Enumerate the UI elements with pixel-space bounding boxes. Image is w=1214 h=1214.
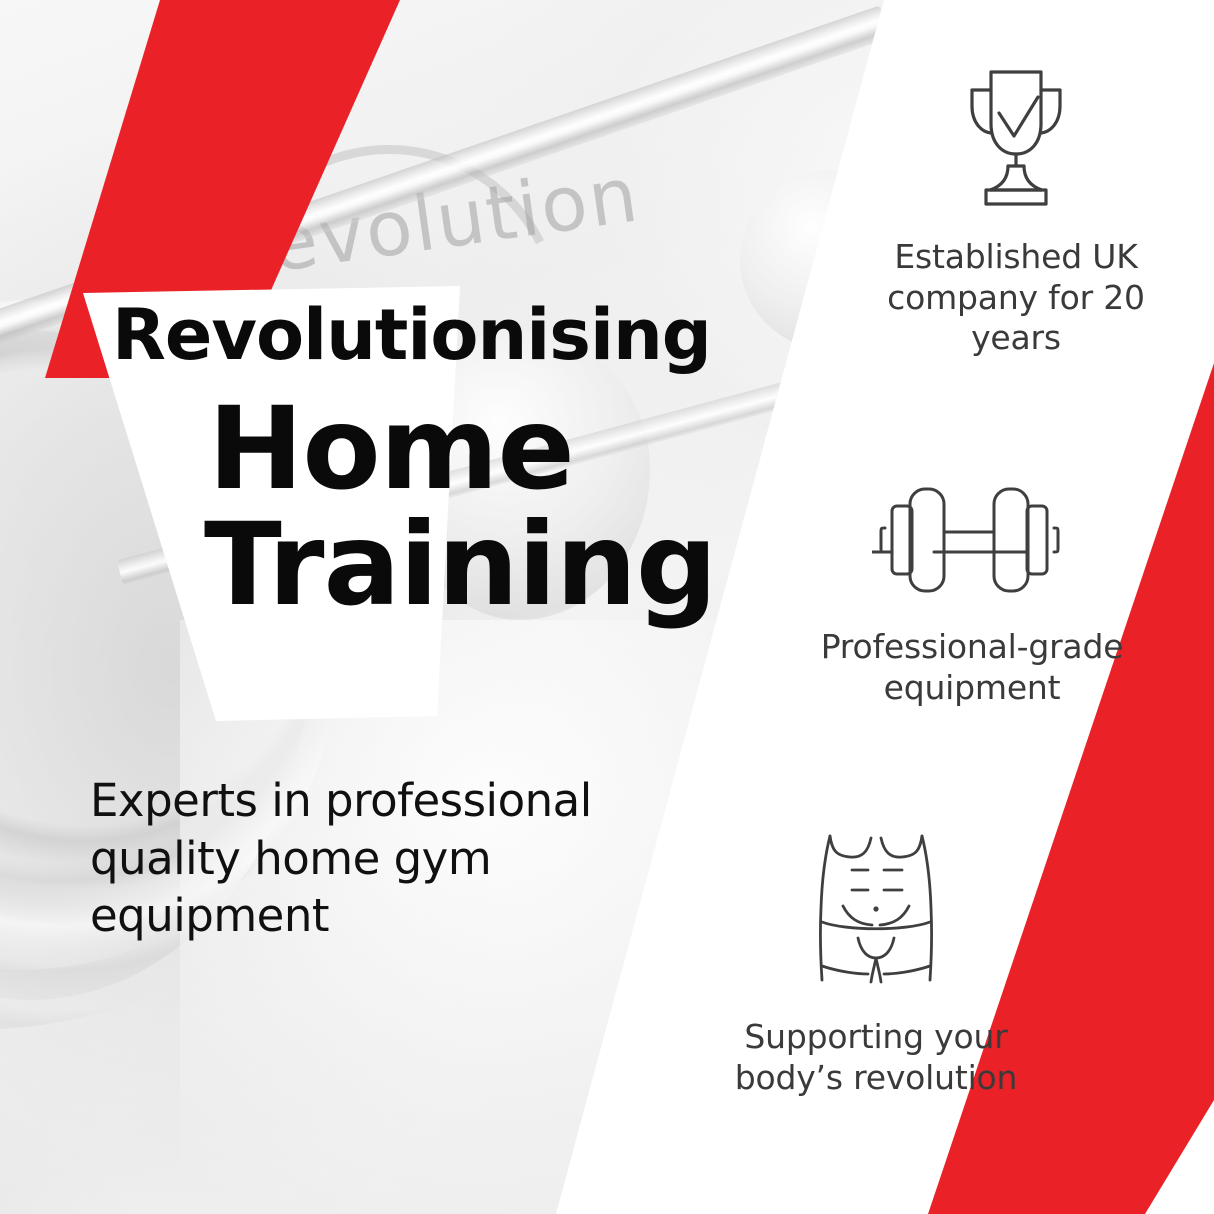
body-copy-text: Experts in professional quality home gym… [90,772,690,945]
dumbbell-icon [822,480,1122,609]
promo-poster: revolution Revolutionising Home Training… [0,0,1214,1214]
headline-line-1: Revolutionising [112,300,768,370]
feature-item-body: Supporting your body’s revolution [726,830,1026,1098]
feature-label: Supporting your body’s revolution [711,1017,1041,1098]
headline-line-2: Home [208,392,768,506]
page-title: Revolutionising Home Training [108,300,768,622]
trophy-icon [866,62,1166,219]
headline-line-3: Training [204,508,768,622]
feature-item-established: Established UK company for 20 years [866,62,1166,358]
feature-item-equipment: Professional-grade equipment [822,480,1122,708]
feature-list: Established UK company for 20 years Prof… [794,0,1214,1214]
torso-abs-icon [726,830,1026,999]
feature-label: Professional-grade equipment [802,627,1142,708]
feature-label: Established UK company for 20 years [866,237,1166,358]
